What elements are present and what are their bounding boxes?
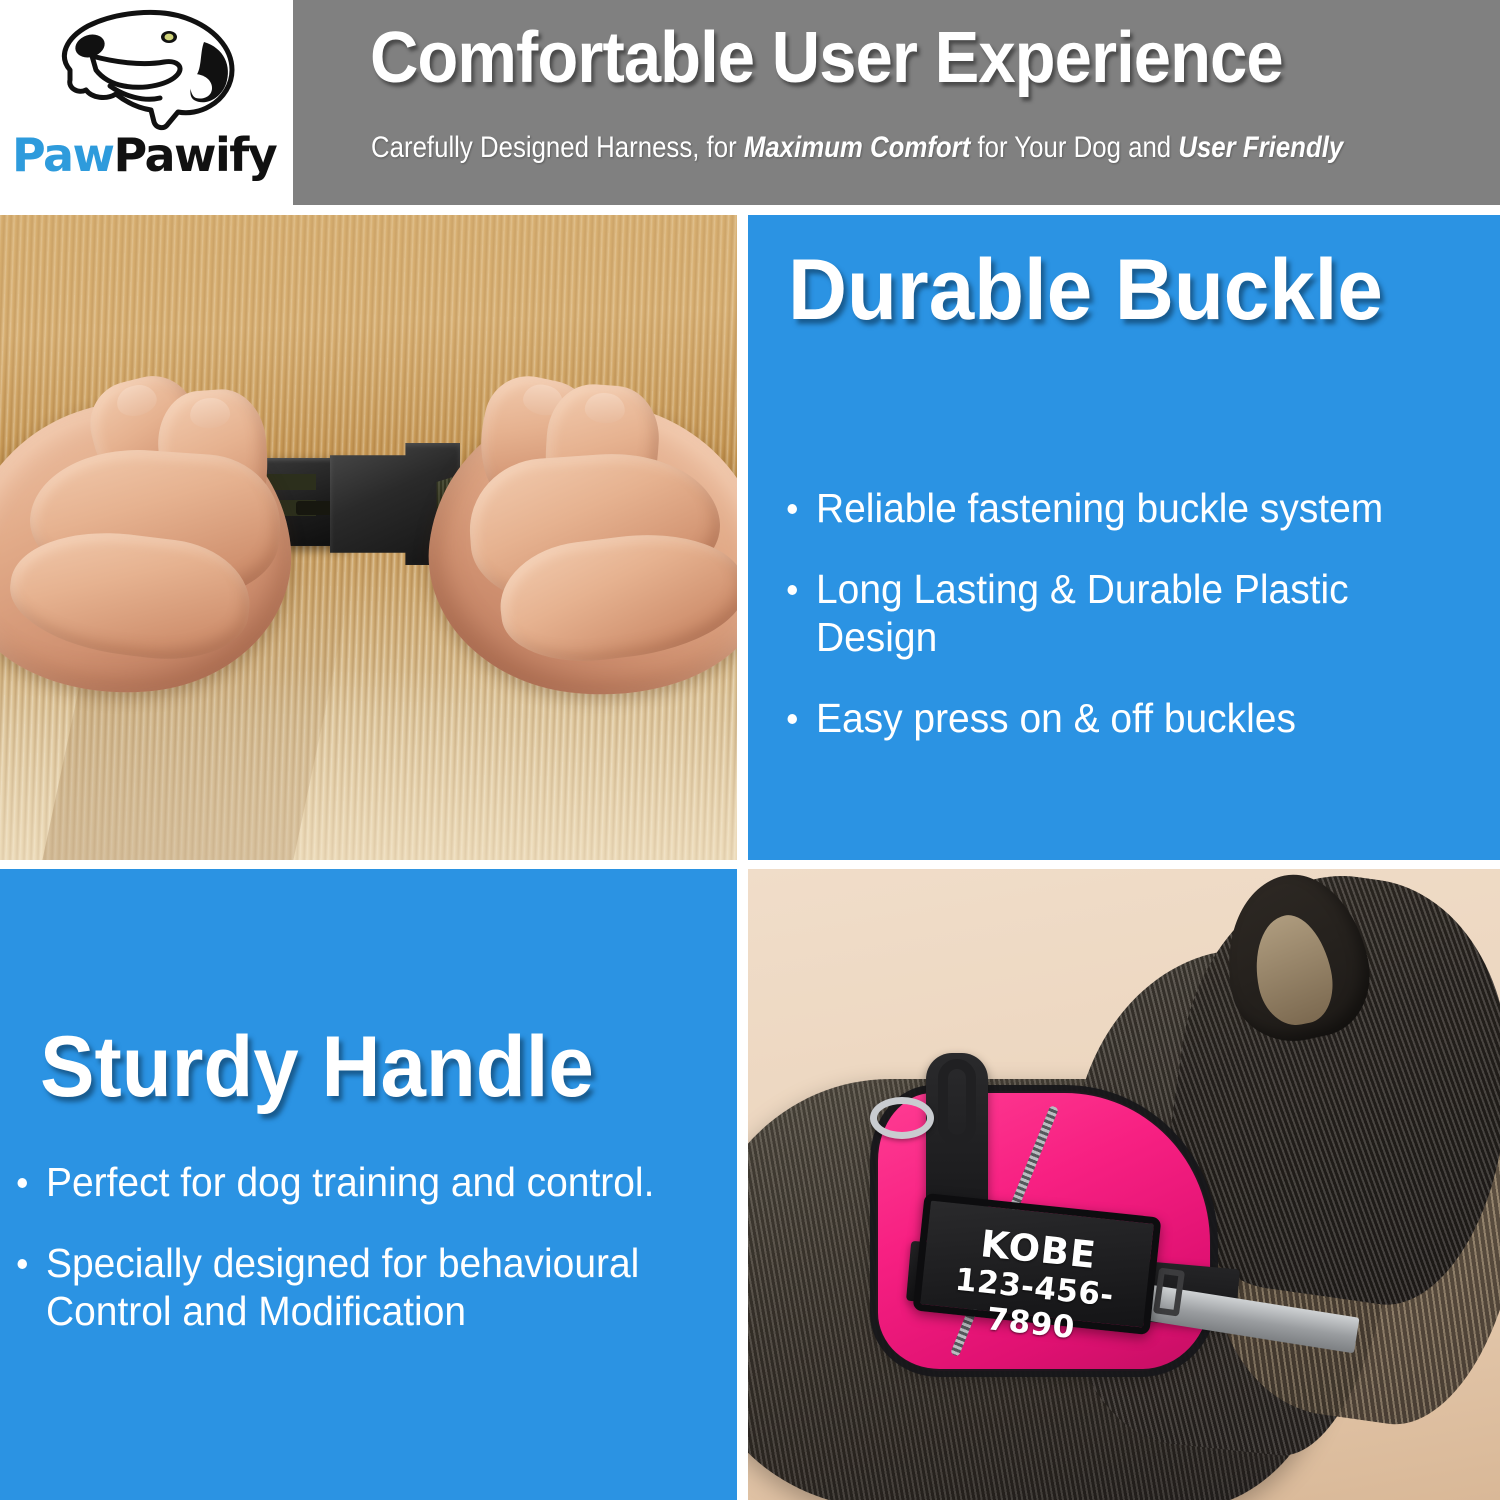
fingernail: [189, 397, 231, 430]
dog-harness-photo-content: KOBE 123-456-7890: [748, 869, 1500, 1500]
list-item: Reliable fastening buckle system: [778, 485, 1443, 533]
buckle-photo-content: [0, 215, 737, 860]
buckle-photo: [0, 215, 737, 860]
durable-buckle-panel: Durable Buckle Reliable fastening buckle…: [748, 215, 1500, 860]
sturdy-handle-bullet-list: Perfect for dog training and control. Sp…: [8, 1159, 728, 1369]
fingernail: [114, 381, 160, 420]
brand-name-part1: Paw: [12, 128, 114, 182]
durable-buckle-bullet-list: Reliable fastening buckle system Long La…: [778, 485, 1478, 776]
handle-loop-opening: [938, 1059, 976, 1145]
name-patch: KOBE 123-456-7890: [912, 1193, 1161, 1335]
subtitle-part2: for Your Dog and: [970, 131, 1178, 164]
durable-buckle-title: Durable Buckle: [788, 247, 1383, 333]
list-item: Easy press on & off buckles: [778, 695, 1443, 743]
list-item: Specially designed for behavioural Contr…: [8, 1240, 692, 1336]
subtitle-emphasis2: User Friendly: [1178, 131, 1343, 164]
brand-logo: PawPawify: [0, 0, 293, 208]
brand-name-part2: Pawify: [114, 128, 277, 182]
list-item: Long Lasting & Durable Plastic Design: [778, 566, 1443, 662]
brand-wordmark: PawPawify: [12, 128, 284, 182]
sturdy-handle-panel: Sturdy Handle Perfect for dog training a…: [0, 869, 737, 1500]
dog-harness-photo: KOBE 123-456-7890: [748, 869, 1500, 1500]
infographic-page: PawPawify Comfortable User Experience Ca…: [0, 0, 1500, 1500]
sturdy-handle-title: Sturdy Handle: [40, 1024, 594, 1110]
subtitle-emphasis1: Maximum Comfort: [744, 131, 970, 164]
page-title: Comfortable User Experience: [370, 22, 1283, 94]
subtitle-part1: Carefully Designed Harness, for: [371, 131, 744, 164]
dog-head-icon: [18, 4, 268, 144]
fingernail: [584, 392, 626, 425]
list-item: Perfect for dog training and control.: [8, 1159, 692, 1207]
page-subtitle: Carefully Designed Harness, for Maximum …: [371, 131, 1343, 165]
header-bar: PawPawify Comfortable User Experience Ca…: [0, 0, 1500, 208]
leash-d-ring: [870, 1097, 934, 1139]
header-gray-band: Comfortable User Experience Carefully De…: [293, 0, 1500, 205]
